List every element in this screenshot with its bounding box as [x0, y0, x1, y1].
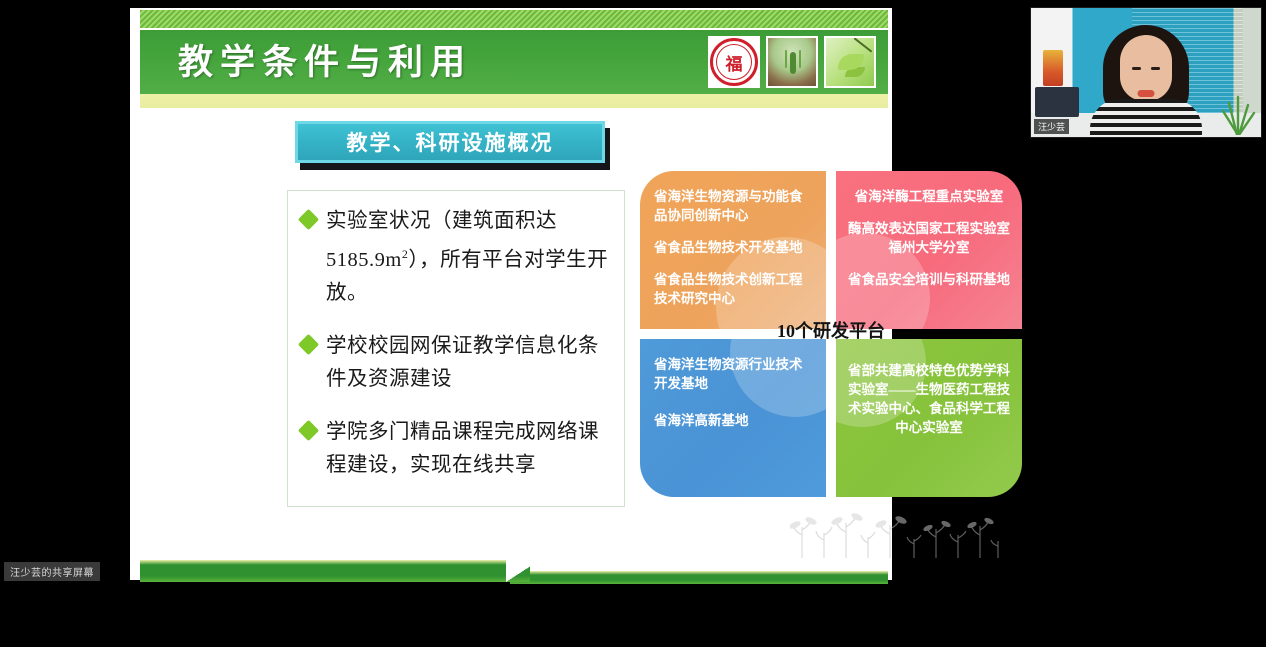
- list-item: 学院多门精品课程完成网络课程建设，实现在线共享: [300, 416, 614, 482]
- person-striped-top: [1090, 99, 1202, 137]
- header-logo-group: 福: [708, 36, 876, 88]
- quadrant-orange: 省海洋生物资源与功能食品协同创新中心 省食品生物技术开发基地 省食品生物技术创新…: [640, 171, 826, 329]
- quadrant-item: 省海洋生物资源行业技术开发基地: [654, 355, 814, 393]
- sprout-decoration-icon: [790, 513, 1005, 558]
- platform-quadrant-diagram: 省海洋生物资源与功能食品协同创新中心 省食品生物技术开发基地 省食品生物技术创新…: [640, 171, 1022, 501]
- quadrant-blue: 省海洋生物资源行业技术开发基地 省海洋高新基地: [640, 339, 826, 497]
- header-yellow-band: [140, 94, 888, 108]
- diamond-bullet-icon: [298, 209, 319, 230]
- footer-left-segment: [140, 560, 530, 582]
- list-item: 学校校园网保证教学信息化条件及资源建设: [300, 330, 614, 396]
- quadrant-item: 省海洋酶工程重点实验室: [846, 187, 1012, 206]
- presentation-slide: 教学条件与利用 福 教学、科研设施概况 实验室状况（建筑面积达5185.9m2）…: [130, 8, 892, 580]
- quadrant-pink: 省海洋酶工程重点实验室 酶高效表达国家工程实验室福州大学分室 省食品安全培训与科…: [836, 171, 1022, 329]
- green-leaves-photo: [824, 36, 876, 88]
- diamond-bullet-icon: [298, 334, 319, 355]
- shared-screen-area: 教学条件与利用 福 教学、科研设施概况 实验室状况（建筑面积达5185.9m2）…: [0, 0, 935, 588]
- bullet-text: 学校校园网保证教学信息化条件及资源建设: [326, 335, 599, 390]
- quadrant-item: 省食品安全培训与科研基地: [846, 270, 1012, 289]
- monitor-object: [1035, 87, 1079, 117]
- screen-share-label: 汪少芸的共享屏幕: [4, 562, 100, 581]
- bullet-text: 学院多门精品课程完成网络课程建设，实现在线共享: [326, 421, 599, 476]
- bullet-list-box: 实验室状况（建筑面积达5185.9m2），所有平台对学生开放。 学校校园网保证教…: [287, 190, 625, 507]
- footer-right-segment: [510, 571, 888, 584]
- quadrant-item: 省食品生物技术开发基地: [654, 238, 814, 257]
- quadrant-item: 酶高效表达国家工程实验室福州大学分室: [846, 219, 1012, 257]
- potted-plant-icon: [1217, 89, 1259, 135]
- diamond-bullet-icon: [298, 420, 319, 441]
- seedling-photo: [766, 36, 818, 88]
- header-striped-band: [140, 10, 888, 30]
- quadrant-item: 省海洋生物资源与功能食品协同创新中心: [654, 187, 814, 225]
- page-title: 教学条件与利用: [178, 36, 628, 90]
- person-lips: [1138, 90, 1155, 97]
- avatar: [1090, 25, 1202, 137]
- quadrant-green: 省部共建高校特色优势学科实验室——生物医药工程技术实验中心、食品科学工程中心实验…: [836, 339, 1022, 497]
- quadrant-item: 省部共建高校特色优势学科实验室——生物医药工程技术实验中心、食品科学工程中心实验…: [846, 361, 1012, 437]
- slide-footer-bar: [140, 560, 888, 586]
- seal-character: 福: [710, 38, 758, 86]
- list-item: 实验室状况（建筑面积达5185.9m2），所有平台对学生开放。: [300, 205, 614, 310]
- participant-video-tile[interactable]: 汪少芸: [1030, 7, 1262, 138]
- quadrant-item: 省海洋高新基地: [654, 411, 814, 430]
- quadrant-item: 省食品生物技术创新工程技术研究中心: [654, 270, 814, 308]
- diagram-center-label: 10个研发平台: [640, 317, 1022, 343]
- section-subtitle: 教学、科研设施概况: [295, 121, 605, 163]
- wall-poster: [1043, 50, 1063, 86]
- participant-name-label: 汪少芸: [1034, 119, 1069, 134]
- university-seal-logo: 福: [708, 36, 760, 88]
- person-eye-left: [1132, 67, 1141, 70]
- footer-step-notch: [506, 560, 540, 582]
- person-face: [1120, 35, 1172, 101]
- meeting-screen: 教学条件与利用 福 教学、科研设施概况 实验室状况（建筑面积达5185.9m2）…: [0, 0, 1266, 647]
- person-eye-right: [1151, 67, 1160, 70]
